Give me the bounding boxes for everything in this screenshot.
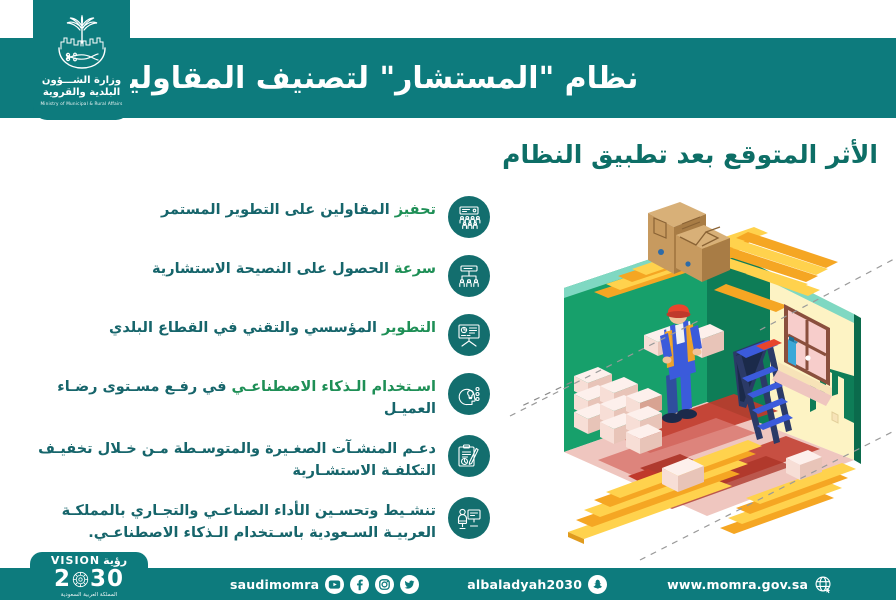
facebook-icon[interactable]: [350, 575, 369, 594]
list-item-rest: تنشـيط وتحسـين الأداء الصناعـي والتجـاري…: [62, 503, 436, 541]
list-item: تحفيز المقاولين على التطوير المستمر: [20, 196, 490, 240]
list-item-rest: الحصول على النصيحة الاستشارية: [152, 261, 394, 277]
footer-group-social: saudimomra: [230, 575, 419, 594]
list-item: تنشـيط وتحسـين الأداء الصناعـي والتجـاري…: [20, 497, 490, 544]
audience-presentation-icon: [448, 196, 490, 238]
list-item-text: دعـم المنشـآت الصغـيرة والمتوسـطة مـن خـ…: [20, 435, 436, 482]
vision-subtitle: المملكة العربية السعودية: [61, 592, 117, 598]
person-computer-icon: [448, 497, 490, 539]
isometric-construction-room-scene: [520, 180, 896, 560]
globe-icon[interactable]: [814, 575, 833, 594]
list-item-text: اسـتخدام الـذكاء الاصطناعـي في رفـع مسـت…: [20, 373, 436, 420]
list-item-text: تنشـيط وتحسـين الأداء الصناعـي والتجـاري…: [20, 497, 436, 544]
footer-group-website: www.momra.gov.sa: [667, 575, 833, 594]
vision-number-2: 2: [54, 567, 71, 591]
list-item: سرعة الحصول على النصيحة الاستشارية: [20, 255, 490, 299]
list-item: التطوير المؤسسي والتقني في القطاع البلدي: [20, 314, 490, 358]
vision-number-30: 30: [90, 567, 124, 591]
vision-2030-badge: VISION رؤية 2 30 المملكة العربية السعودي…: [30, 552, 148, 600]
youtube-icon[interactable]: [325, 575, 344, 594]
logo-english-name: Ministry of Municipal & Rural Affairs: [40, 101, 122, 106]
org-chart-icon: [448, 255, 490, 297]
list-item-text: التطوير المؤسسي والتقني في القطاع البلدي: [20, 314, 436, 339]
list-item: اسـتخدام الـذكاء الاصطناعـي في رفـع مسـت…: [20, 373, 490, 420]
ai-head-bulb-icon: [448, 373, 490, 415]
list-item-rest: المؤسسي والتقني في القطاع البلدي: [109, 320, 382, 336]
website-url: www.momra.gov.sa: [667, 577, 808, 592]
logo-arabic-line-2: البلدية والقروية: [43, 87, 120, 99]
list-item-text: سرعة الحصول على النصيحة الاستشارية: [20, 255, 436, 280]
logo-arabic-line-1: وزارة الشـــؤون: [42, 75, 121, 87]
vision-ornament-icon: [72, 571, 89, 588]
social-handle-albaladyah2030: albaladyah2030: [467, 577, 582, 592]
footer-group-snapchat: albaladyah2030: [467, 575, 607, 594]
vision-number: 2 30: [54, 567, 124, 591]
instagram-icon[interactable]: [375, 575, 394, 594]
list-item-rest: دعـم المنشـآت الصغـيرة والمتوسـطة مـن خـ…: [38, 441, 436, 479]
twitter-icon[interactable]: [400, 575, 419, 594]
snapchat-icon[interactable]: [588, 575, 607, 594]
easel-chart-icon: [448, 314, 490, 356]
list-item-highlight: اسـتخدام الـذكاء الاصطناعـي: [232, 379, 436, 395]
social-handle-saudimomra: saudimomra: [230, 577, 319, 592]
list-item-text: تحفيز المقاولين على التطوير المستمر: [20, 196, 436, 221]
clipboard-pen-icon: [448, 435, 490, 477]
page-title: نظام "المستشار" لتصنيف المقاولين: [0, 38, 870, 118]
list-item-highlight: سرعة: [394, 261, 436, 277]
list-item-rest: المقاولين على التطوير المستمر: [161, 202, 395, 218]
saudi-palm-swords-emblem: [51, 15, 113, 73]
section-subtitle: الأثر المتوقع بعد تطبيق النظام: [502, 140, 878, 169]
list-item-highlight: تحفيز: [395, 202, 436, 218]
list-item: دعـم المنشـآت الصغـيرة والمتوسـطة مـن خـ…: [20, 435, 490, 482]
ministry-logo-panel: وزارة الشـــؤون البلدية والقروية Ministr…: [33, 0, 130, 120]
impact-list: تحفيز المقاولين على التطوير المستمر سرعة…: [20, 196, 490, 559]
list-item-highlight: التطوير: [382, 320, 436, 336]
